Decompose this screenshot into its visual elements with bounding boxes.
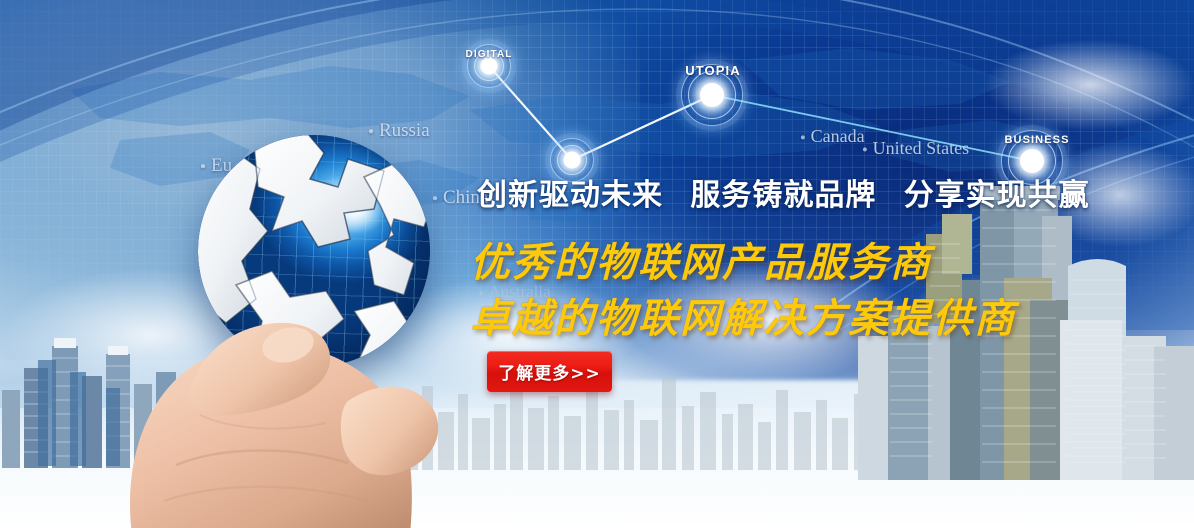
headline-part-1: 创新驱动未来 bbox=[477, 179, 663, 212]
page-title: 创新驱动未来 服务铸就品牌 分享实现共赢 bbox=[477, 170, 1090, 214]
subline-primary: 优秀的物联网产品服务商 bbox=[470, 230, 932, 288]
city-skyline-icon bbox=[400, 360, 920, 470]
hero-banner: Russia Eu China Canada United States Aus… bbox=[0, 0, 1194, 528]
subline-secondary: 卓越的物联网解决方案提供商 bbox=[470, 286, 1016, 344]
globe-icon bbox=[198, 135, 430, 367]
city-skyline-icon bbox=[10, 336, 170, 466]
network-node-label-digital: DIGITAL bbox=[466, 49, 513, 60]
headline-part-3: 分享实现共赢 bbox=[904, 179, 1090, 212]
headline-part-2: 服务铸就品牌 bbox=[690, 179, 876, 212]
learn-more-button[interactable]: 了解更多>> bbox=[487, 351, 612, 392]
network-node-label-business: BUSINESS bbox=[1004, 134, 1069, 146]
network-node-label-utopia: UTOPIA bbox=[685, 63, 740, 78]
